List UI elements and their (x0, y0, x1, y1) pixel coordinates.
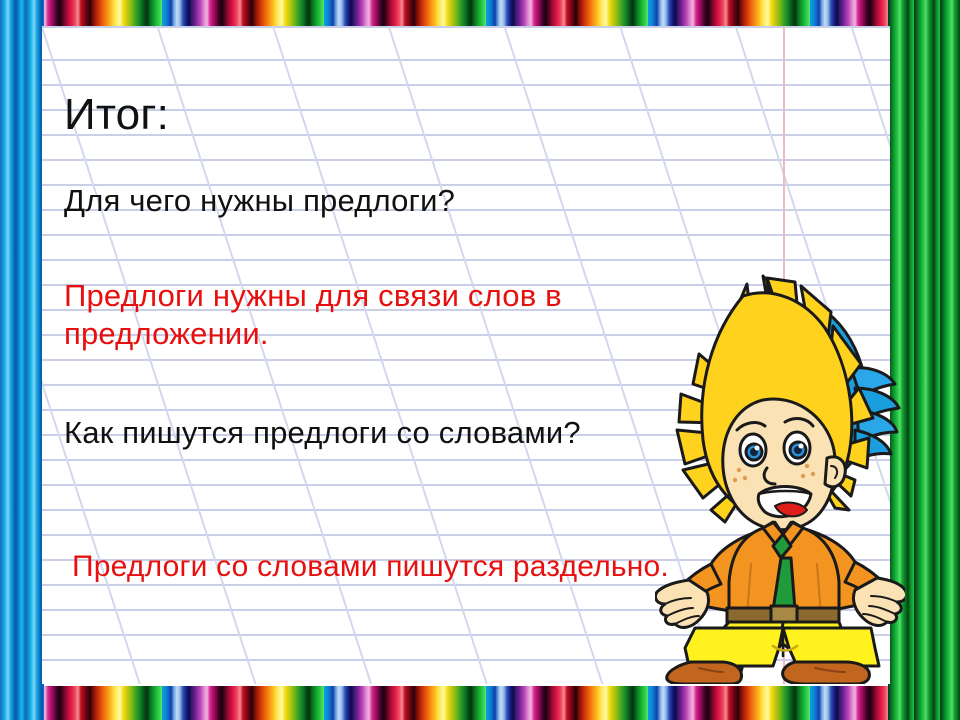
question-2-text: Как пишутся предлоги со словами? (64, 414, 664, 452)
answer-1-text: Предлоги нужны для связи слов в предложе… (64, 277, 684, 353)
question-1-text: Для чего нужны предлоги? (64, 182, 455, 220)
slide-text-layer: Итог: Для чего нужны предлоги? Предлоги … (0, 0, 960, 720)
slide-canvas: Итог: Для чего нужны предлоги? Предлоги … (0, 0, 960, 720)
page-title: Итог: (64, 88, 169, 142)
answer-2-text: Предлоги со словами пишутся раздельно. (72, 549, 672, 586)
